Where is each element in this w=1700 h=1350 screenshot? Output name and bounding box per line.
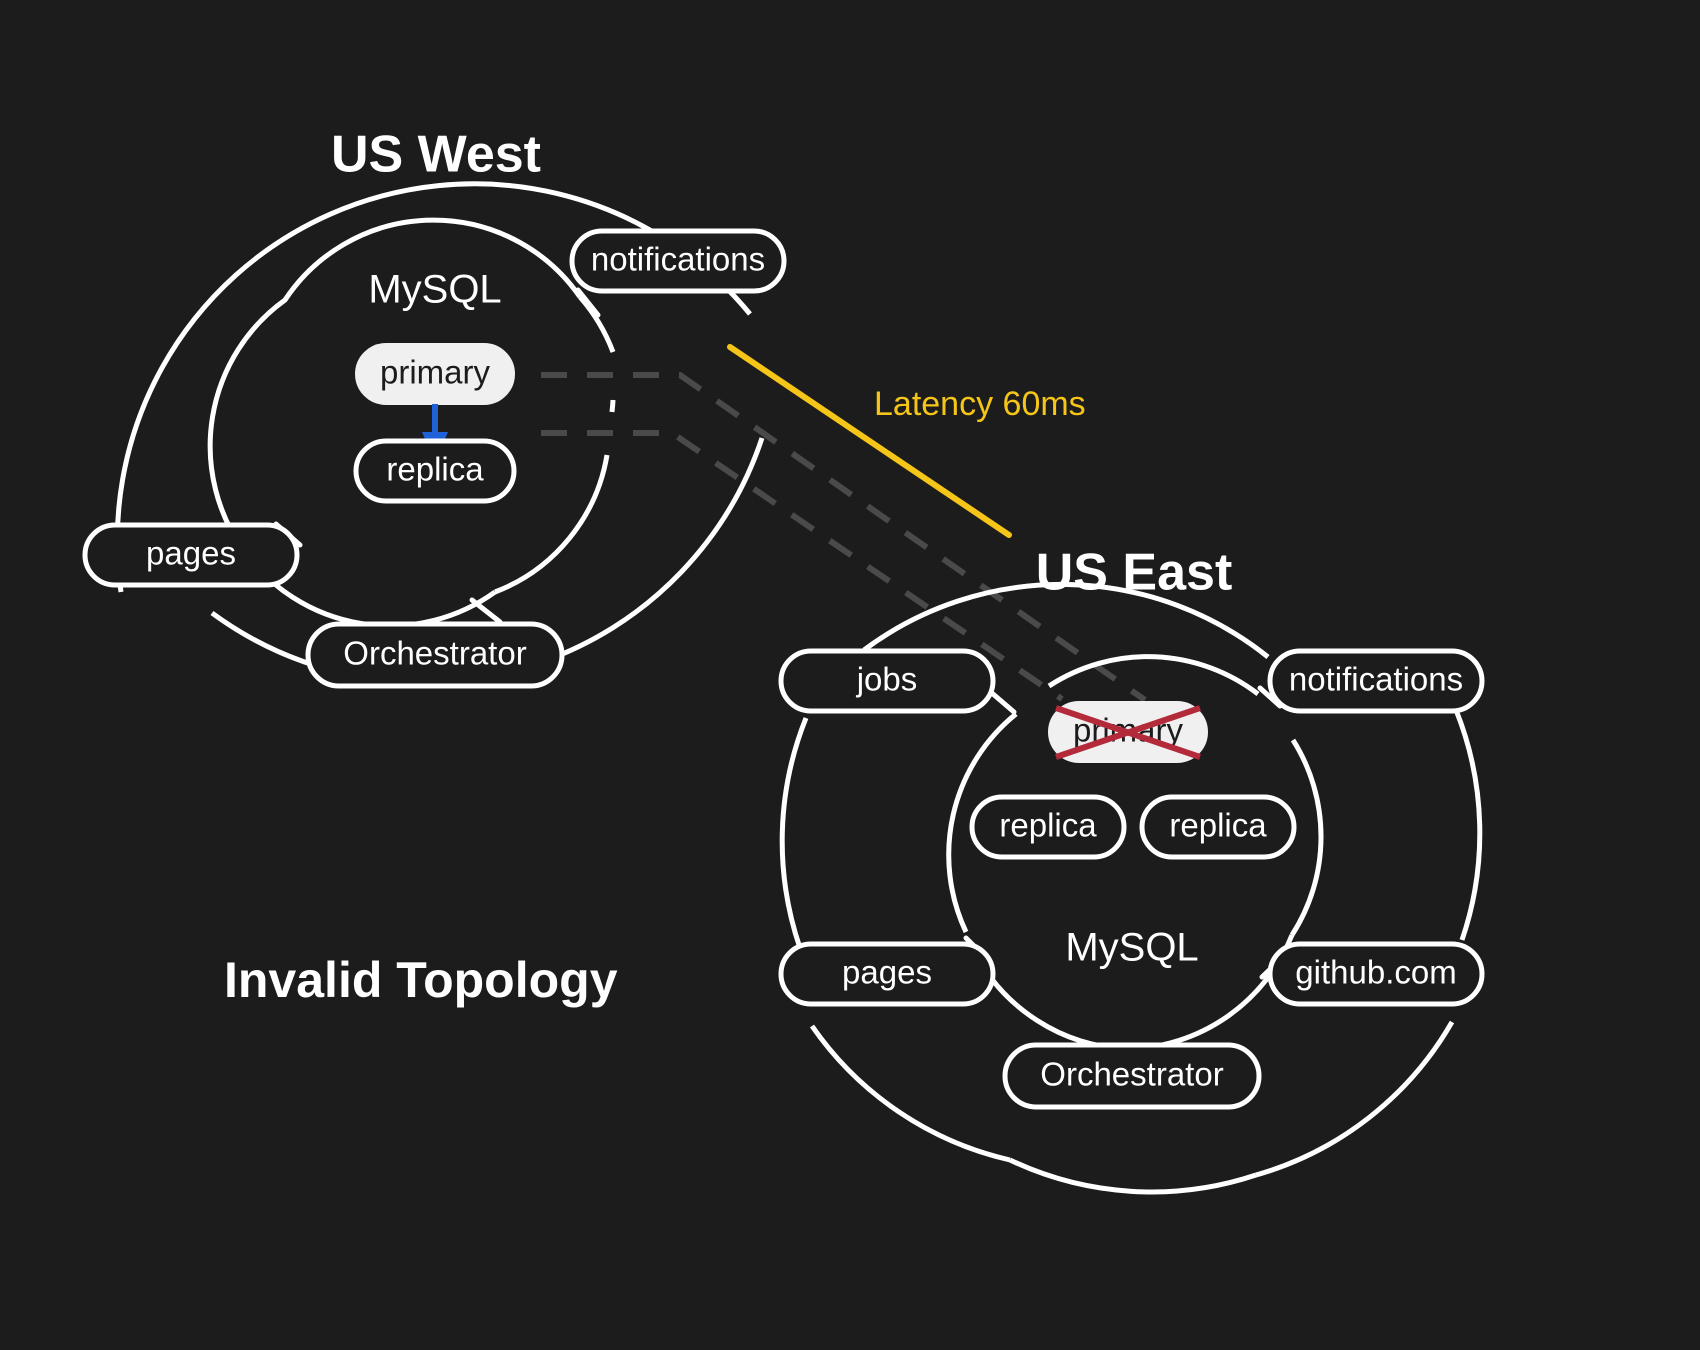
us-east-orchestrator-label: Orchestrator: [1040, 1056, 1223, 1093]
us-east-db-replica-2[interactable]: replica: [1142, 797, 1294, 857]
us-east-replica-2-label: replica: [1169, 807, 1267, 844]
us-west-notifications-connector: [578, 290, 598, 315]
us-east-notifications-label: notifications: [1289, 661, 1463, 698]
us-east-region-boundary-right: [1456, 710, 1480, 940]
us-west-service-notifications[interactable]: notifications: [572, 231, 784, 291]
us-west-orchestrator-label: Orchestrator: [343, 635, 526, 672]
us-east-mysql-label: MySQL: [1065, 926, 1198, 970]
us-east-mysql-boundary-a: [1049, 657, 1258, 694]
us-west-primary-label: primary: [380, 354, 491, 391]
us-east-region-boundary-bottomleft: [812, 1026, 1010, 1160]
us-west-service-pages[interactable]: pages: [85, 525, 297, 585]
latency-label: Latency 60ms: [874, 385, 1086, 423]
us-east-service-github-com[interactable]: github.com: [1270, 944, 1482, 1004]
us-west-notifications-label: notifications: [591, 241, 765, 278]
us-east-db-primary[interactable]: primary: [1049, 702, 1207, 762]
topology-diagram: US West MySQL primary replica notificati…: [0, 0, 1700, 1350]
us-east-service-orchestrator[interactable]: Orchestrator: [1005, 1045, 1259, 1107]
us-west-region-title: US West: [331, 126, 541, 184]
us-east-service-pages[interactable]: pages: [781, 944, 993, 1004]
us-west-db-replica-1[interactable]: replica: [356, 441, 514, 501]
us-east-region-title: US East: [1036, 544, 1233, 602]
us-east-mysql-boundary-b: [1292, 740, 1321, 935]
us-west-service-orchestrator[interactable]: Orchestrator: [308, 624, 562, 686]
us-east-service-jobs[interactable]: jobs: [781, 651, 993, 711]
us-west-orchestrator-connector: [472, 600, 500, 622]
region-us-west: US West MySQL primary replica notificati…: [85, 126, 784, 686]
us-west-replica-label: replica: [386, 451, 484, 488]
us-east-db-replica-1[interactable]: replica: [972, 797, 1124, 857]
us-east-region-boundary-left: [782, 718, 806, 948]
us-west-mysql-label: MySQL: [368, 268, 501, 312]
us-east-region-boundary-bottomright: [1256, 1022, 1452, 1175]
us-east-region-boundary-bottom: [1010, 1160, 1256, 1192]
us-east-jobs-label: jobs: [856, 661, 918, 698]
region-us-east: US East MySQL primary replica replica: [781, 544, 1482, 1192]
us-east-service-notifications[interactable]: notifications: [1270, 651, 1482, 711]
us-west-db-primary[interactable]: primary: [356, 344, 514, 404]
us-east-pages-label: pages: [842, 954, 932, 991]
diagram-canvas: US West MySQL primary replica notificati…: [0, 0, 1700, 1350]
diagram-caption: Invalid Topology: [224, 952, 618, 1008]
us-west-mysql-boundary-a: [580, 297, 613, 352]
latency-link: Latency 60ms: [730, 347, 1086, 535]
us-west-pages-label: pages: [146, 535, 236, 572]
us-east-github-label: github.com: [1295, 954, 1456, 991]
us-east-replica-1-label: replica: [999, 807, 1097, 844]
us-west-mysql-boundary-b: [612, 400, 613, 412]
